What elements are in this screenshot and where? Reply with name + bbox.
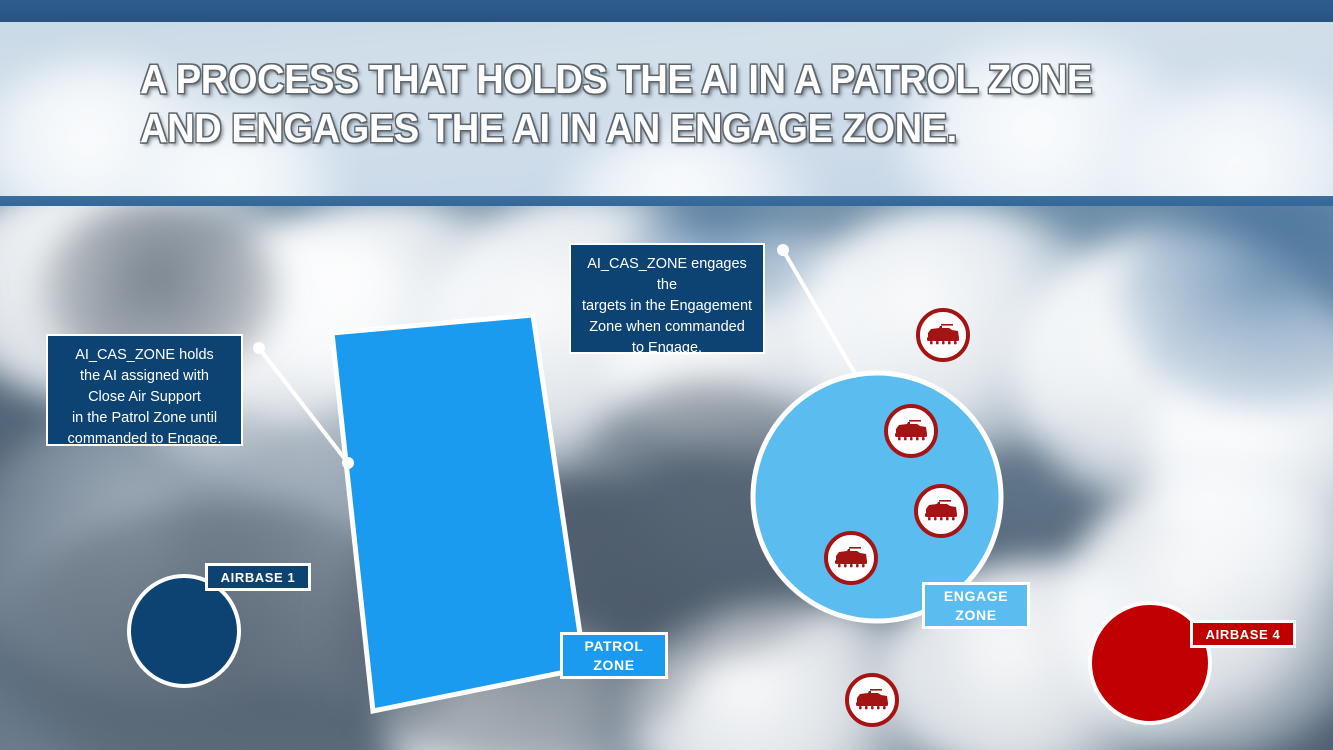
page-title: A PROCESS THAT HOLDS THE AI IN A PATROL …	[140, 55, 1126, 153]
armored-vehicle-icon	[893, 420, 929, 442]
slide-canvas: A PROCESS THAT HOLDS THE AI IN A PATROL …	[0, 0, 1333, 750]
armored-vehicle-icon	[854, 689, 890, 711]
armored-vehicle-icon	[925, 324, 961, 346]
armored-vehicle-icon	[833, 547, 869, 569]
airbase-1-label[interactable]: AIRBASE 1	[205, 563, 311, 591]
patrol-zone-label[interactable]: PATROL ZONE	[560, 632, 668, 679]
airbase-4-label[interactable]: AIRBASE 4	[1190, 620, 1296, 648]
target-marker-1[interactable]	[916, 308, 970, 362]
target-marker-5[interactable]	[845, 673, 899, 727]
target-marker-3[interactable]	[914, 484, 968, 538]
engage-zone-label[interactable]: ENGAGE ZONE	[922, 582, 1030, 629]
callout-engage-zone: AI_CAS_ZONE engages the targets in the E…	[569, 243, 765, 354]
patrol-zone-shape[interactable]	[332, 315, 585, 711]
top-accent-bar	[0, 0, 1333, 22]
target-marker-2[interactable]	[884, 404, 938, 458]
header-divider	[0, 196, 1333, 206]
airbase-1-circle[interactable]	[129, 576, 239, 686]
leader-line-engage	[777, 244, 857, 377]
armored-vehicle-icon	[923, 500, 959, 522]
target-marker-4[interactable]	[824, 531, 878, 585]
callout-patrol-zone: AI_CAS_ZONE holds the AI assigned with C…	[46, 334, 243, 446]
